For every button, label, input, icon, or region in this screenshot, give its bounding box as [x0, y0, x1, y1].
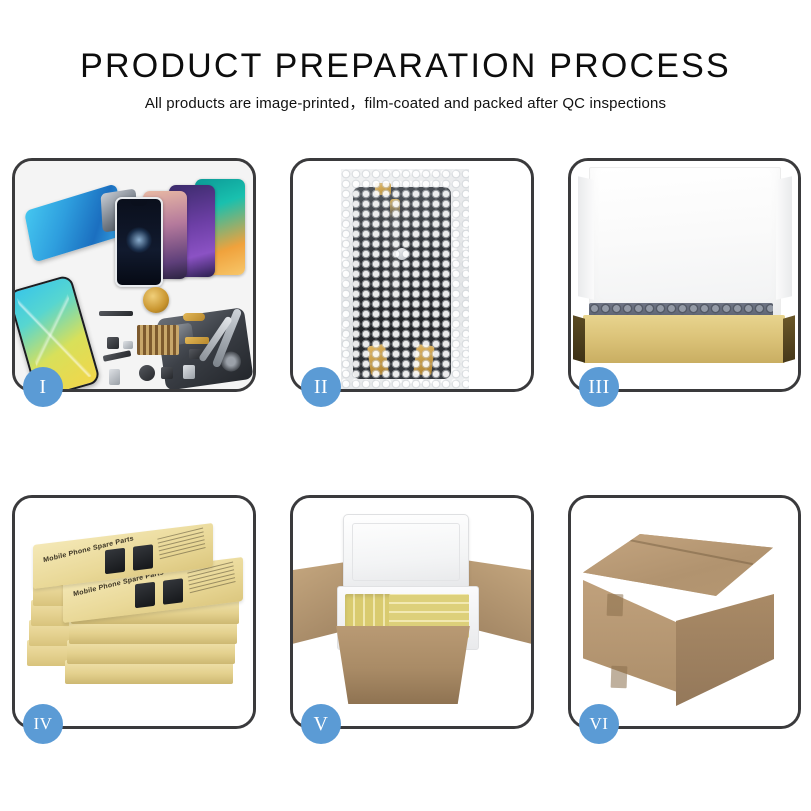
page-subtitle: All products are image-printed，film-coat… [0, 86, 811, 113]
step-5-image [293, 498, 531, 726]
process-step-panel-1: I [12, 158, 256, 392]
part-gold-flex [185, 337, 209, 344]
carton-body [327, 626, 479, 704]
phone-screens-fan [103, 177, 253, 282]
styrofoam-lid [343, 514, 469, 590]
step-badge-1: I [23, 367, 63, 407]
part-sim-tray [109, 369, 120, 385]
page-header: PRODUCT PREPARATION PROCESS All products… [0, 0, 811, 113]
process-step-panel-3: III [568, 158, 801, 392]
carton-tape-mark [611, 666, 628, 689]
part-strip [99, 311, 133, 316]
part-button [161, 367, 173, 379]
phone-screen-cracked-black [115, 197, 163, 287]
speaker-coil-icon [143, 287, 169, 313]
page-title: PRODUCT PREPARATION PROCESS [0, 0, 811, 86]
part-flex-cable [103, 350, 132, 362]
part-bracket [123, 341, 133, 349]
step-2-image [293, 161, 531, 389]
carton-right-face [676, 594, 774, 706]
box-label-phone-image [163, 578, 183, 604]
box-label-spec-lines [157, 527, 206, 568]
white-box-lid [589, 167, 781, 317]
step-4-image: Mobile Phone Spare Parts Mobile Phone Sp… [15, 498, 253, 726]
carton-top-face [583, 534, 773, 596]
carton-tape-mark [607, 594, 624, 617]
step-badge-3: III [579, 367, 619, 407]
spare-parts-cluster [99, 291, 229, 387]
phone-cracked-display [15, 274, 101, 389]
box-label-phone-image [105, 548, 125, 574]
box-label-phone-image [133, 544, 153, 570]
kraft-box-tray [583, 315, 785, 363]
bubble-wrap-sleeve [341, 169, 469, 389]
bubble-texture-overlay [341, 169, 469, 389]
process-step-panel-5: V [290, 495, 534, 729]
step-badge-4: IV [23, 704, 63, 744]
step-badge-2: II [301, 367, 341, 407]
part-battery-tab [183, 365, 195, 379]
box-stack: Mobile Phone Spare Parts Mobile Phone Sp… [23, 528, 245, 708]
process-step-panel-4: Mobile Phone Spare Parts Mobile Phone Sp… [12, 495, 256, 729]
part-camera [139, 365, 155, 381]
step-badge-5: V [301, 704, 341, 744]
chip-grid-graphic [137, 325, 179, 355]
process-steps-grid: I II III [12, 158, 801, 729]
carton-left-face [583, 580, 677, 692]
step-1-image [15, 161, 253, 389]
step-6-image [571, 498, 798, 726]
part-chip [107, 337, 119, 349]
step-3-image [571, 161, 798, 389]
process-step-panel-2: II [290, 158, 534, 392]
step-badge-6: VI [579, 704, 619, 744]
part-connector [183, 313, 205, 321]
process-step-panel-6: VI [568, 495, 801, 729]
box-label-phone-image [135, 582, 155, 608]
